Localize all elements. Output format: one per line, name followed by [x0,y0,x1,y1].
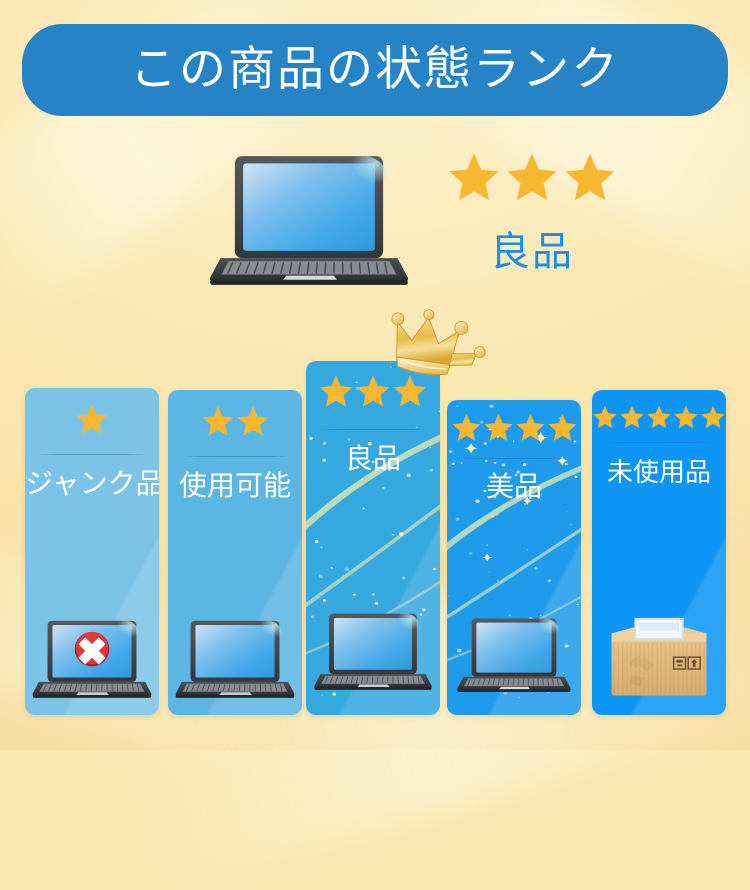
rank-star-rating [168,404,302,438]
star-icon [75,402,109,436]
header-banner: この商品の状態ランク [22,24,728,116]
error-x-icon [75,632,110,667]
column-divider [459,458,569,459]
rank-star-rating [447,412,581,443]
star-icon [619,404,645,430]
column-divider [180,456,290,457]
star-icon [447,150,501,204]
rank-column-3[interactable]: 良品 [306,361,440,715]
star-icon [236,404,270,438]
rank-label: 未使用品 [592,459,726,485]
rank-column-4[interactable]: 美品 [447,400,581,715]
star-icon [563,150,617,204]
star-icon [451,412,482,443]
rank-star-rating [592,404,726,430]
rank-artwork [447,615,581,695]
star-icon [673,404,699,430]
star-icon [515,412,546,443]
hero-rating: 良品 [432,148,632,293]
star-icon [483,412,514,443]
rank-label: ジャンク品 [25,470,159,498]
star-icon [505,150,559,204]
column-divider [604,442,714,443]
hero-rank-label: 良品 [432,232,632,272]
rank-star-rating [25,402,159,436]
rank-artwork [592,606,726,701]
rank-artwork [25,617,159,701]
rank-artwork [306,610,440,693]
column-divider [318,429,428,430]
rank-column-2[interactable]: 使用可能 [168,390,302,715]
star-icon [646,404,672,430]
laptop-icon [206,150,412,290]
laptop-icon [206,150,412,290]
star-icon [592,404,618,430]
cardboard-box-icon [604,606,714,701]
crown-icon [381,307,489,379]
rank-label: 美品 [447,473,581,501]
laptop-icon [312,610,434,693]
laptop-icon [455,615,573,695]
rank-column-1[interactable]: ジャンク品 [25,388,159,715]
star-icon [318,373,354,409]
laptop-broken-icon [30,617,154,701]
rank-label: 良品 [306,445,440,473]
star-icon [700,404,726,430]
star-icon [201,404,235,438]
page-title: この商品の状態ランク [130,45,620,95]
column-divider [37,454,147,455]
hero-section: 良品 [0,140,750,310]
star-icon [547,412,578,443]
hero-star-rating [432,148,632,206]
rank-label: 使用可能 [168,472,302,500]
laptop-icon [173,617,297,701]
rank-column-5[interactable]: 未使用品 [592,390,726,715]
rank-artwork [168,617,302,701]
crown-icon [381,307,489,379]
